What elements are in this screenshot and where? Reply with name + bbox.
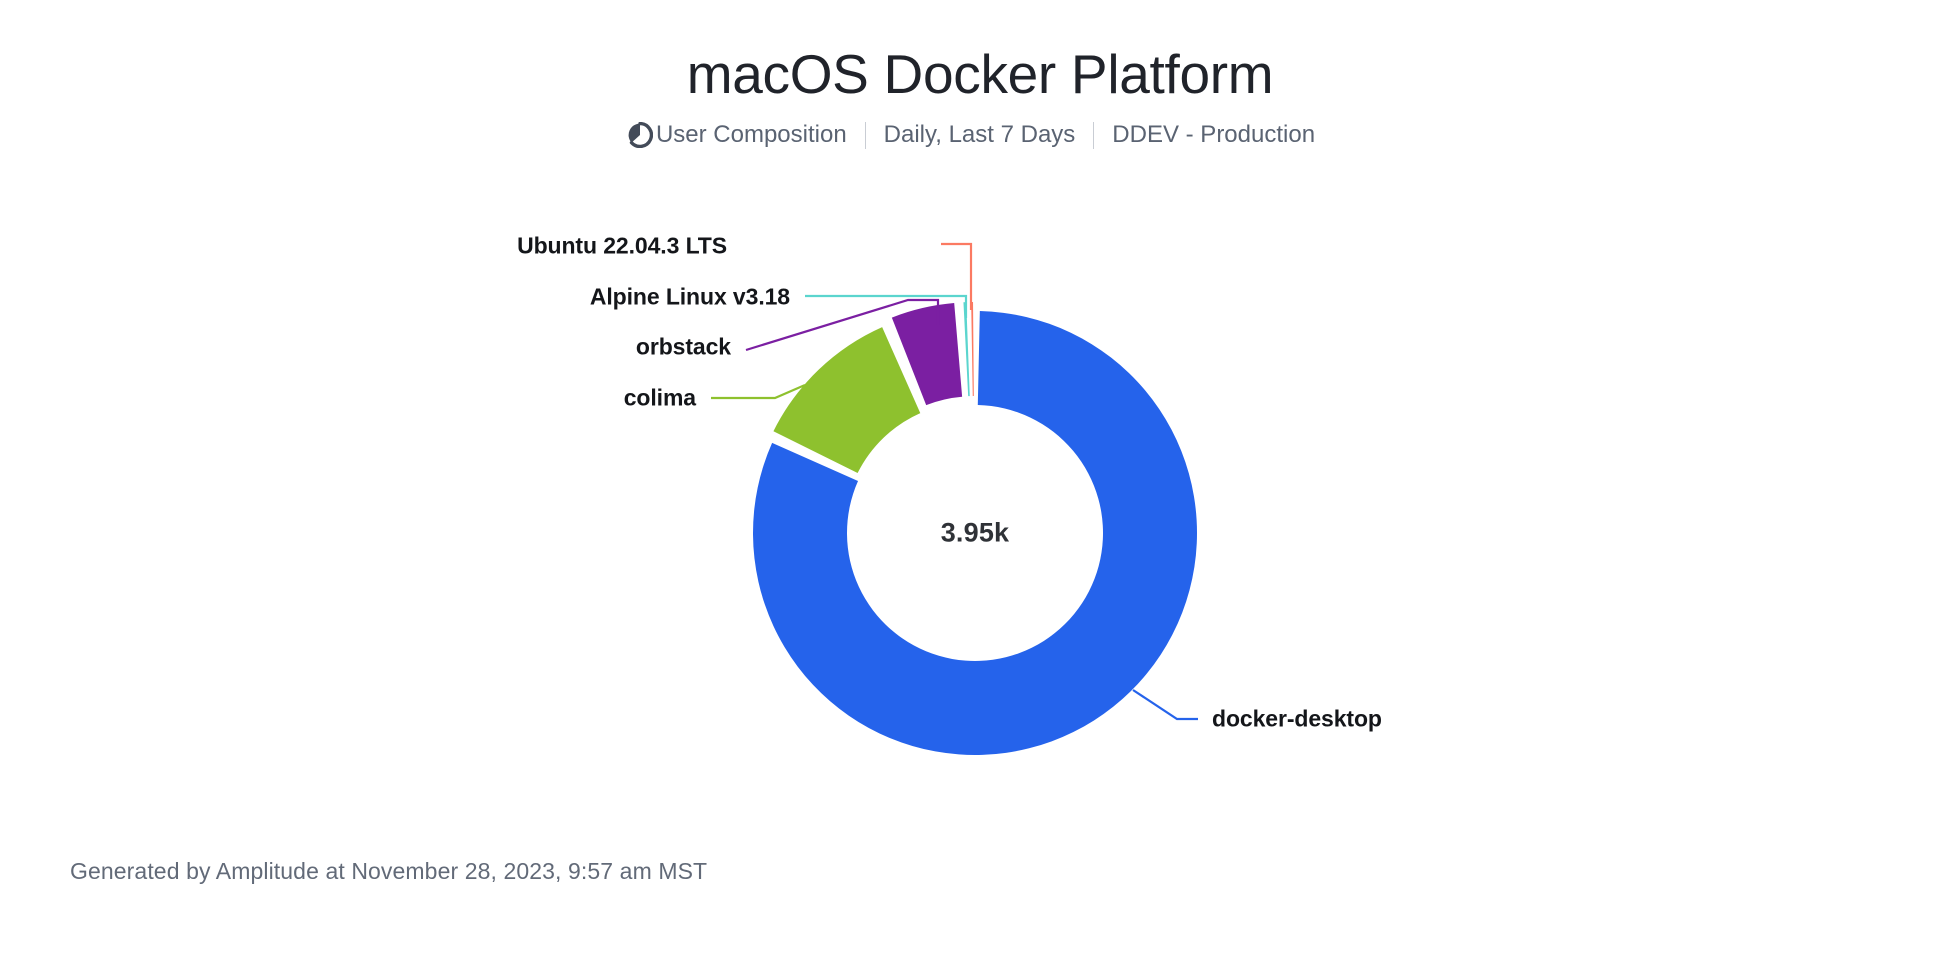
interval-label: Daily, Last 7 Days: [884, 123, 1076, 147]
metric-chunk: User Composition: [627, 122, 865, 148]
slice-label-docker-desktop: docker-desktop: [1212, 706, 1382, 733]
chart-header: macOS Docker Platform User Composition D…: [0, 0, 1960, 149]
project-chunk: DDEV - Production: [1094, 123, 1333, 147]
leader-colima: [711, 385, 805, 398]
chart-page: macOS Docker Platform User Composition D…: [0, 0, 1960, 960]
donut-slice[interactable]: [971, 302, 974, 396]
leader-docker-desktop: [1133, 690, 1198, 719]
interval-chunk: Daily, Last 7 Days: [866, 123, 1094, 147]
donut-slice[interactable]: [892, 303, 962, 405]
chart-subtitle: User Composition Daily, Last 7 Days DDEV…: [0, 122, 1960, 149]
leader-lines: [711, 244, 1198, 719]
leader-orbstack: [746, 300, 938, 350]
donut-center-total: 3.95k: [941, 518, 1010, 549]
footer-attribution: Generated by Amplitude at November 28, 2…: [70, 858, 707, 885]
donut-slice[interactable]: [753, 311, 1197, 755]
donut-slices: [753, 302, 1197, 755]
slice-label-alpine: Alpine Linux v3.18: [590, 284, 790, 311]
slice-label-colima: colima: [624, 385, 696, 412]
donut-slice[interactable]: [963, 302, 969, 396]
slice-label-orbstack: orbstack: [636, 334, 731, 361]
donut-slice[interactable]: [773, 327, 920, 473]
page-title: macOS Docker Platform: [0, 44, 1960, 105]
leader-ubuntu: [941, 244, 971, 310]
leader-alpine: [805, 296, 966, 318]
project-label: DDEV - Production: [1112, 123, 1315, 147]
metric-label: User Composition: [656, 123, 847, 147]
donut-chart-icon: [627, 122, 653, 148]
slice-label-ubuntu: Ubuntu 22.04.3 LTS: [517, 233, 727, 260]
